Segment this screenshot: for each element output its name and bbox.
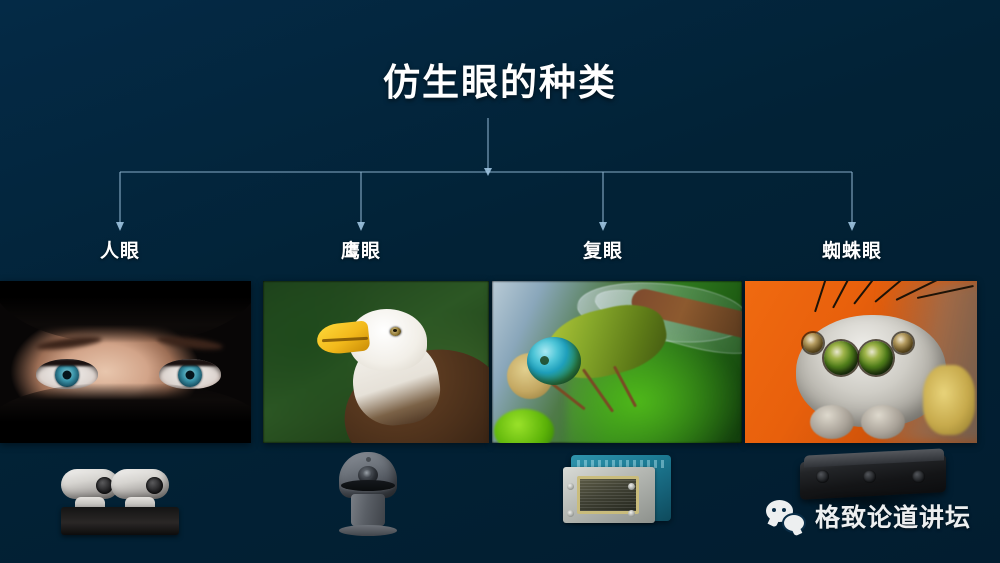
dual-ptz-camera bbox=[55, 455, 185, 535]
wechat-icon bbox=[766, 500, 806, 533]
sensor-screw bbox=[628, 510, 635, 517]
iris-right bbox=[178, 363, 202, 387]
spider-eye-principal-left bbox=[824, 341, 858, 375]
spider-pedipalp-left bbox=[810, 405, 854, 439]
arrowhead-2 bbox=[357, 222, 365, 231]
sensor-die bbox=[577, 476, 639, 514]
eyelash-left bbox=[36, 359, 98, 366]
eyelash-right bbox=[159, 359, 221, 366]
stem-arrowhead bbox=[484, 168, 492, 176]
sensor-screw bbox=[628, 483, 635, 490]
image-sensor-chip bbox=[563, 455, 675, 531]
camera-lens-icon bbox=[863, 470, 876, 483]
slide-root: 仿生眼的种类 人眼 鹰眼 复眼 蜘蛛眼 bbox=[0, 0, 1000, 563]
camera-base bbox=[339, 525, 397, 536]
branch-label-eagle-eye: 鹰眼 bbox=[341, 236, 381, 263]
niqab-bottom bbox=[0, 383, 251, 443]
pupil-left bbox=[63, 371, 72, 380]
wechat-dot bbox=[772, 508, 776, 512]
sensor-screw bbox=[567, 510, 574, 517]
sensor-package bbox=[563, 467, 655, 523]
sensor-screw bbox=[567, 483, 574, 490]
branch-label-human-eye: 人眼 bbox=[100, 236, 140, 263]
camera-base bbox=[61, 507, 179, 535]
branch-label-compound-eye: 复眼 bbox=[583, 236, 623, 263]
compound-eye bbox=[527, 337, 581, 385]
dragonfly-compound-eye-photo bbox=[492, 281, 742, 443]
eagle-eye bbox=[390, 327, 401, 336]
branch-label-spider-eye: 蜘蛛眼 bbox=[822, 236, 882, 263]
watermark: 格致论道讲坛 bbox=[766, 498, 971, 534]
spider-eye-secondary-left bbox=[803, 333, 823, 353]
watermark-text: 格致论道讲坛 bbox=[815, 498, 971, 534]
camera-barrel bbox=[111, 469, 169, 499]
jumping-spider-photo bbox=[745, 281, 977, 443]
arrowhead-4 bbox=[848, 222, 856, 231]
camera-lens-icon bbox=[146, 477, 163, 494]
spider-pedipalp-right bbox=[861, 405, 905, 439]
camera-lens-icon bbox=[912, 470, 925, 483]
wechat-dot bbox=[782, 508, 786, 512]
page-title: 仿生眼的种类 bbox=[0, 52, 1000, 106]
arrowhead-3 bbox=[599, 222, 607, 231]
camera-lens-icon bbox=[816, 470, 829, 483]
spider-prey-blob bbox=[923, 365, 975, 435]
wechat-bubble-front bbox=[782, 513, 806, 533]
iris-left bbox=[55, 363, 79, 387]
camera-window-slot bbox=[341, 480, 395, 491]
spider-eye-principal-right bbox=[859, 341, 893, 375]
camera-indicator-dot bbox=[366, 457, 371, 462]
human-eyes-photo bbox=[0, 281, 251, 443]
eagle-photo bbox=[263, 281, 489, 443]
pupil-right bbox=[186, 371, 195, 380]
arrowhead-1 bbox=[116, 222, 124, 231]
camera-neck bbox=[351, 494, 385, 526]
dome-ptz-camera bbox=[333, 452, 403, 536]
